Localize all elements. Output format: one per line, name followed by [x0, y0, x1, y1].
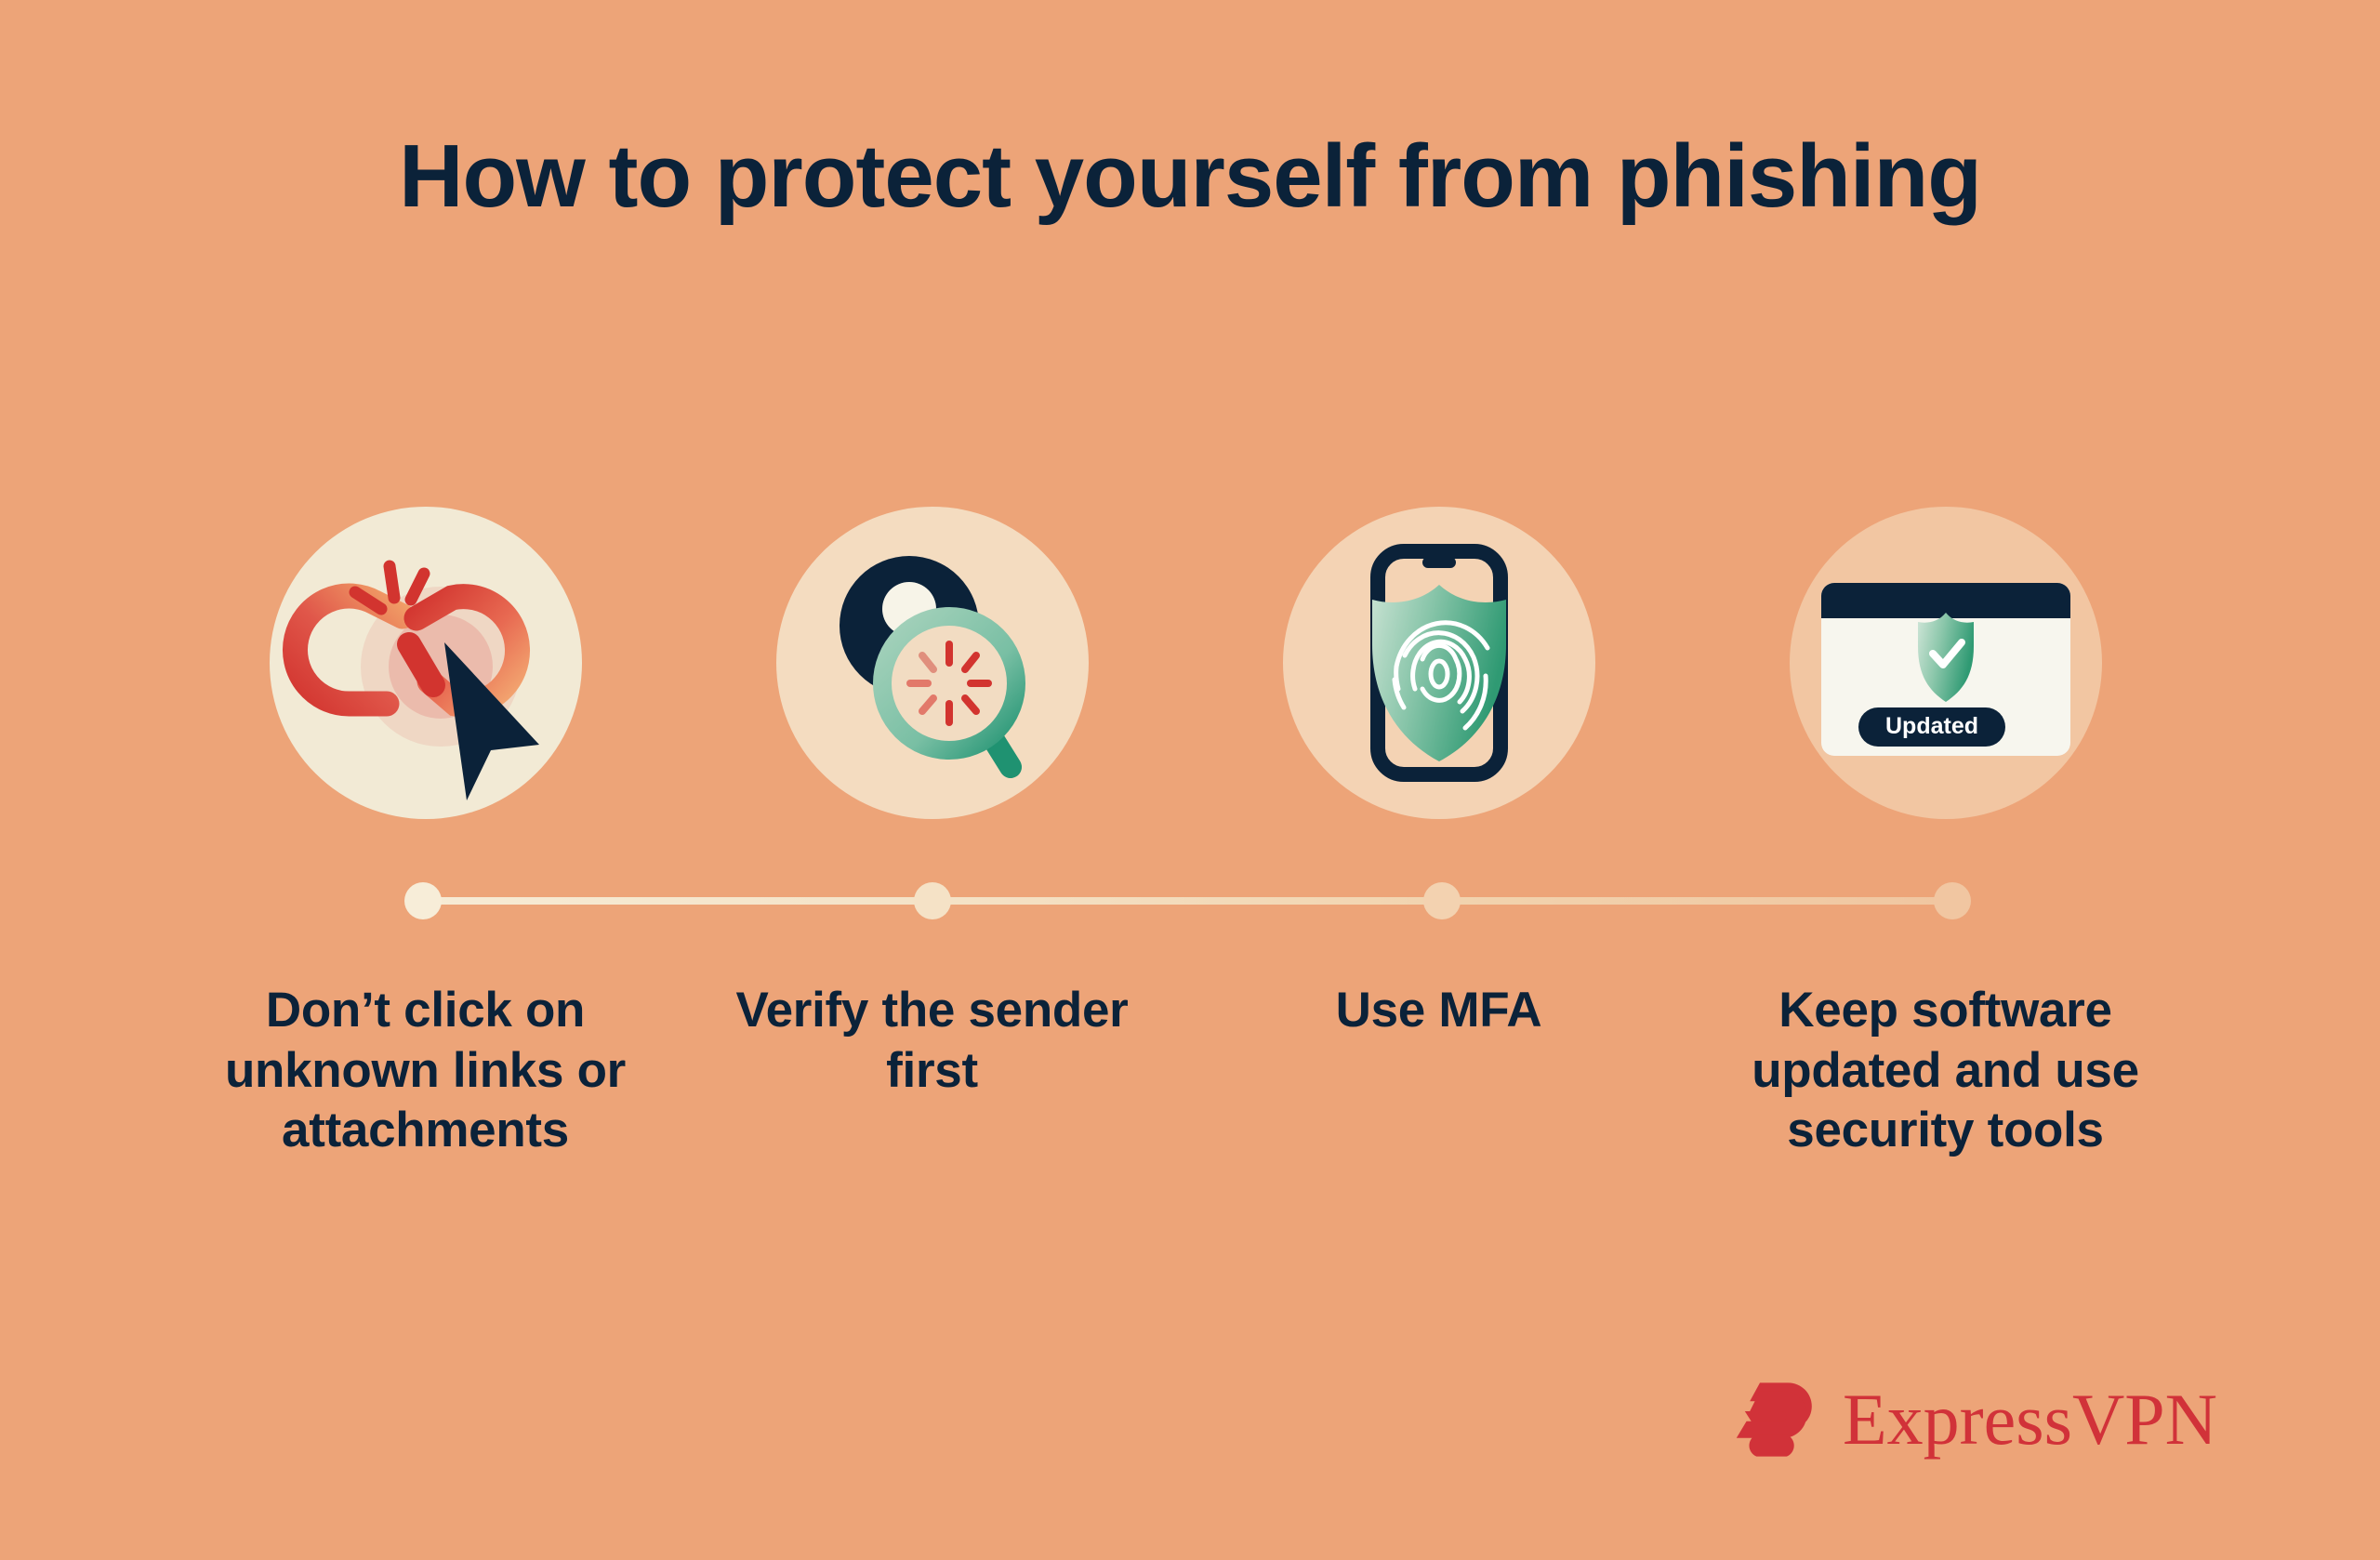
- timeline: [423, 897, 1952, 905]
- step-4-caption: Keep software updated and use security t…: [1692, 981, 2199, 1161]
- step-2-badge: [776, 507, 1089, 819]
- shield-shape: [1372, 585, 1506, 761]
- broken-link-art: [270, 507, 582, 819]
- expressvpn-wordmark: ExpressVPN: [1843, 1383, 2217, 1456]
- expressvpn-logo: ExpressVPN: [1735, 1377, 2217, 1462]
- verify-sender-magnifier-icon: [776, 507, 1089, 819]
- verify-sender-art: [776, 507, 1089, 819]
- step-4-badge: Updated: [1790, 507, 2102, 819]
- broken-link-cursor-icon: [270, 507, 582, 819]
- step-3-caption: Use MFA: [1185, 981, 1692, 1161]
- captions-row: Don’t click on unknown links or attachme…: [172, 981, 2208, 1161]
- updated-software-art: Updated: [1790, 507, 2102, 819]
- timeline-dot-4: [1934, 882, 1971, 919]
- step-2-caption: Verify the sender first: [679, 981, 1185, 1161]
- phone-fingerprint-shield-icon: [1283, 507, 1595, 819]
- browser-updated-shield-icon: Updated: [1790, 507, 2102, 819]
- step-1-badge: [270, 507, 582, 819]
- step-1-caption: Don’t click on unknown links or attachme…: [172, 981, 679, 1161]
- page-title: How to protect yourself from phishing: [0, 130, 2380, 224]
- step-3-badge: [1283, 507, 1595, 819]
- expressvpn-logo-mark: [1735, 1377, 1818, 1462]
- status-badge-label: Updated: [1885, 713, 1978, 739]
- mfa-art: [1283, 507, 1595, 819]
- timeline-dot-3: [1423, 882, 1461, 919]
- magnifier-lens: [882, 616, 1016, 750]
- timeline-dot-2: [914, 882, 951, 919]
- timeline-dot-1: [404, 882, 442, 919]
- infographic-canvas: { "page": { "title": "How to protect you…: [0, 0, 2380, 1560]
